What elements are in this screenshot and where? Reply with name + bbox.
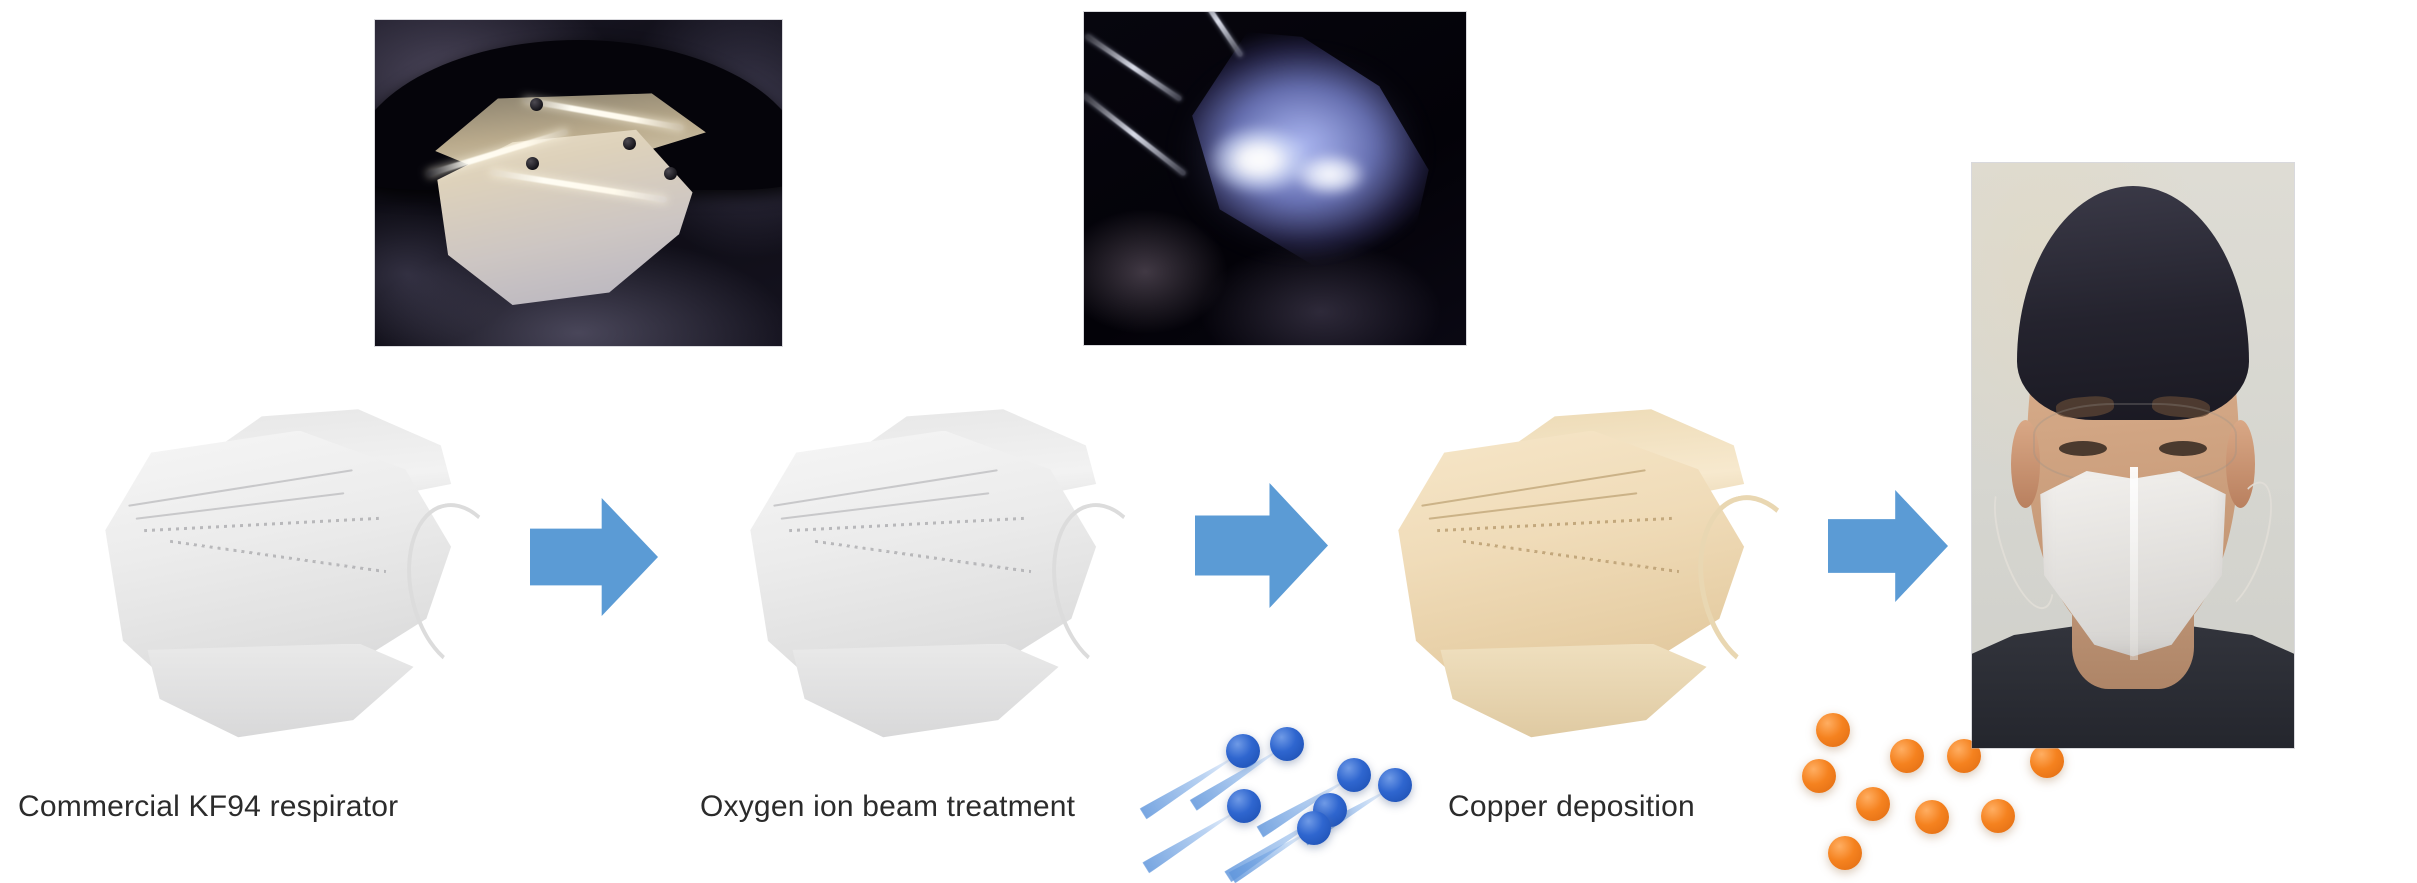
copper-particle (1802, 759, 1836, 793)
holder-bolt (530, 98, 543, 111)
copper-particle (1828, 836, 1862, 870)
oxygen-ion-particle (1270, 727, 1304, 761)
illustration-copper-deposition (1378, 395, 1798, 750)
caption-step-1: Commercial KF94 respirator (18, 790, 398, 824)
person-wearing-mask-photo (1972, 163, 2294, 748)
oxygen-ion-particle (1378, 768, 1412, 802)
oxygen-ion-particle (1227, 789, 1261, 823)
mask-graphic (730, 395, 1150, 750)
caption-step-2: Oxygen ion beam treatment (700, 790, 1075, 824)
copper-particle (1890, 739, 1924, 773)
holder-bolt (664, 167, 677, 180)
oxygen-ion-particle (1297, 811, 1331, 845)
arrow-step-1-to-2 (530, 498, 658, 616)
mask-graphic (1378, 395, 1798, 750)
copper-particle (1856, 787, 1890, 821)
holder-bolt (526, 157, 539, 170)
arrow-step-2-to-3 (1195, 483, 1328, 608)
mask-graphic (85, 395, 505, 750)
mask-chin-panel (1428, 644, 1730, 751)
copper-particle (1816, 713, 1850, 747)
copper-particle (2030, 744, 2064, 778)
ion-beam-plasma-photo (1084, 12, 1466, 345)
portrait-mask-center-fold (2130, 467, 2138, 660)
illustration-commercial-kf94-mask (85, 395, 505, 750)
arrow-step-3-to-4 (1828, 490, 1948, 602)
mask-chin-panel (780, 644, 1082, 751)
copper-particle (1915, 800, 1949, 834)
caption-step-3: Copper deposition (1448, 790, 1695, 824)
oxygen-ion-particle (1337, 758, 1371, 792)
mask-chin-panel (135, 644, 437, 751)
illustration-oxygen-ion-beam-treatment (730, 395, 1150, 750)
copper-particle (1981, 799, 2015, 833)
figure-canvas: Commercial KF94 respirator Oxygen ion be… (0, 0, 2417, 855)
vacuum-chamber-photo (375, 20, 782, 346)
